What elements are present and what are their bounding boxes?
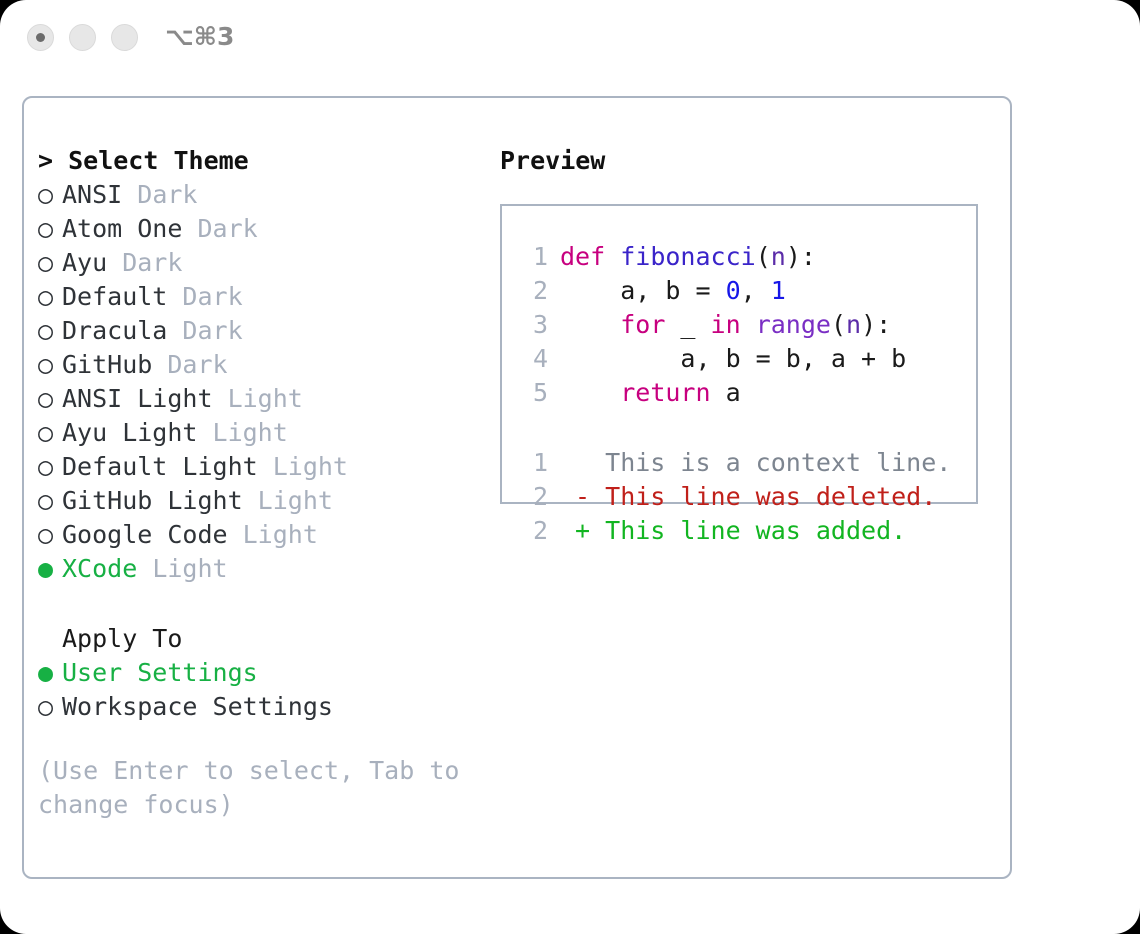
code-token: 1 [771,276,786,305]
theme-variant: Light [197,418,287,447]
theme-variant: Dark [152,350,227,379]
preview-header: Preview [500,144,1000,178]
line-number: 1 [522,240,548,274]
apply-to-header: Apply To [38,622,498,656]
code-token: ): [786,242,816,271]
theme-name: Google Code [62,520,228,549]
code-token [560,378,620,407]
code-token: ( [756,242,771,271]
code-token: fibonacci [620,242,755,271]
code-token [605,242,620,271]
theme-list[interactable]: ○ANSI Dark○Atom One Dark○Ayu Dark○Defaul… [38,178,498,586]
theme-name: GitHub Light [62,486,243,515]
line-number: 2 [522,480,548,514]
line-number: 2 [522,514,548,548]
code-sample: 1def fibonacci(n):2 a, b = 0, 13 for _ i… [522,240,906,410]
code-token: a [711,378,741,407]
diff-line: 2 + This line was added. [522,514,951,548]
diff-line: 2 - This line was deleted. [522,480,951,514]
theme-variant: Light [243,486,333,515]
apply-to-label: User Settings [62,658,258,687]
preview-box: 1def fibonacci(n):2 a, b = 0, 13 for _ i… [500,204,978,504]
code-token: , [741,276,771,305]
keyboard-hint-text: (Use Enter to select, Tab to change focu… [38,754,468,822]
code-token: 0 [726,276,741,305]
theme-variant: Light [213,384,303,413]
code-token: ( [831,310,846,339]
code-token: in [711,310,741,339]
code-token: _ [665,310,710,339]
theme-list-item[interactable]: ○Ayu Dark [38,246,498,280]
radio-selected-icon: ● [38,656,62,690]
code-token: ): [861,310,891,339]
code-token: n [771,242,786,271]
line-number: 2 [522,274,548,308]
radio-selected-icon: ● [38,552,62,586]
window-controls [27,24,138,51]
theme-list-item[interactable]: ○Default Light Light [38,450,498,484]
code-line: 3 for _ in range(n): [522,308,906,342]
theme-variant: Dark [167,316,242,345]
theme-list-item[interactable]: ○Ayu Light Light [38,416,498,450]
line-number: 4 [522,342,548,376]
theme-variant: Dark [167,282,242,311]
theme-list-item[interactable]: ○ANSI Dark [38,178,498,212]
radio-unselected-icon: ○ [38,178,62,212]
theme-name: ANSI [62,180,122,209]
theme-name: Ayu Light [62,418,197,447]
theme-variant: Light [228,520,318,549]
title-bar: ⌥⌘3 [0,0,1140,78]
radio-unselected-icon: ○ [38,690,62,724]
code-token [741,310,756,339]
code-line: 5 return a [522,376,906,410]
theme-list-item[interactable]: ○GitHub Light Light [38,484,498,518]
theme-name: Dracula [62,316,167,345]
theme-name: Default [62,282,167,311]
diff-text: + This line was added. [560,516,906,545]
line-number: 5 [522,376,548,410]
code-token: a, b = b, a + b [560,344,906,373]
radio-unselected-icon: ○ [38,246,62,280]
theme-list-item[interactable]: ○Atom One Dark [38,212,498,246]
window-control-close[interactable] [27,24,54,51]
theme-variant: Dark [182,214,257,243]
apply-to-item[interactable]: ●User Settings [38,656,498,690]
keyboard-shortcut-label: ⌥⌘3 [165,22,234,51]
code-token [560,310,620,339]
window-control-dot [36,33,45,42]
code-token: return [620,378,710,407]
theme-name: ANSI Light [62,384,213,413]
line-number: 1 [522,446,548,480]
radio-unselected-icon: ○ [38,518,62,552]
code-token: n [846,310,861,339]
radio-unselected-icon: ○ [38,416,62,450]
theme-list-item[interactable]: ●XCode Light [38,552,498,586]
window-control-minimize[interactable] [69,24,96,51]
radio-unselected-icon: ○ [38,348,62,382]
theme-list-item[interactable]: ○ANSI Light Light [38,382,498,416]
code-token: range [756,310,831,339]
radio-unselected-icon: ○ [38,280,62,314]
theme-name: Atom One [62,214,182,243]
app-window: ⌥⌘3 > Select Theme ○ANSI Dark○Atom One D… [0,0,1140,934]
radio-unselected-icon: ○ [38,212,62,246]
theme-name: GitHub [62,350,152,379]
apply-to-item[interactable]: ○Workspace Settings [38,690,498,724]
diff-text: This is a context line. [560,448,951,477]
theme-list-item[interactable]: ○GitHub Dark [38,348,498,382]
code-token: def [560,242,605,271]
radio-unselected-icon: ○ [38,314,62,348]
theme-selector-column: > Select Theme ○ANSI Dark○Atom One Dark○… [38,144,498,822]
theme-name: XCode [62,554,137,583]
code-line: 2 a, b = 0, 1 [522,274,906,308]
theme-list-item[interactable]: ○Google Code Light [38,518,498,552]
code-token: a, b = [560,276,726,305]
theme-variant: Light [137,554,227,583]
apply-to-list[interactable]: ●User Settings○Workspace Settings [38,656,498,724]
theme-list-item[interactable]: ○Dracula Dark [38,314,498,348]
theme-list-item[interactable]: ○Default Dark [38,280,498,314]
apply-to-label: Workspace Settings [62,692,333,721]
theme-name: Default Light [62,452,258,481]
code-line: 1def fibonacci(n): [522,240,906,274]
window-control-maximize[interactable] [111,24,138,51]
radio-unselected-icon: ○ [38,382,62,416]
code-line: 4 a, b = b, a + b [522,342,906,376]
radio-unselected-icon: ○ [38,450,62,484]
theme-name: Ayu [62,248,107,277]
radio-unselected-icon: ○ [38,484,62,518]
code-token: for [620,310,665,339]
diff-sample: 1 This is a context line.2 - This line w… [522,446,951,548]
theme-variant: Dark [107,248,182,277]
diff-text: - This line was deleted. [560,482,936,511]
theme-variant: Light [258,452,348,481]
preview-column: Preview [500,144,1000,178]
diff-line: 1 This is a context line. [522,446,951,480]
line-number: 3 [522,308,548,342]
content-panel: > Select Theme ○ANSI Dark○Atom One Dark○… [22,96,1012,879]
select-theme-header: > Select Theme [38,144,498,178]
theme-variant: Dark [122,180,197,209]
